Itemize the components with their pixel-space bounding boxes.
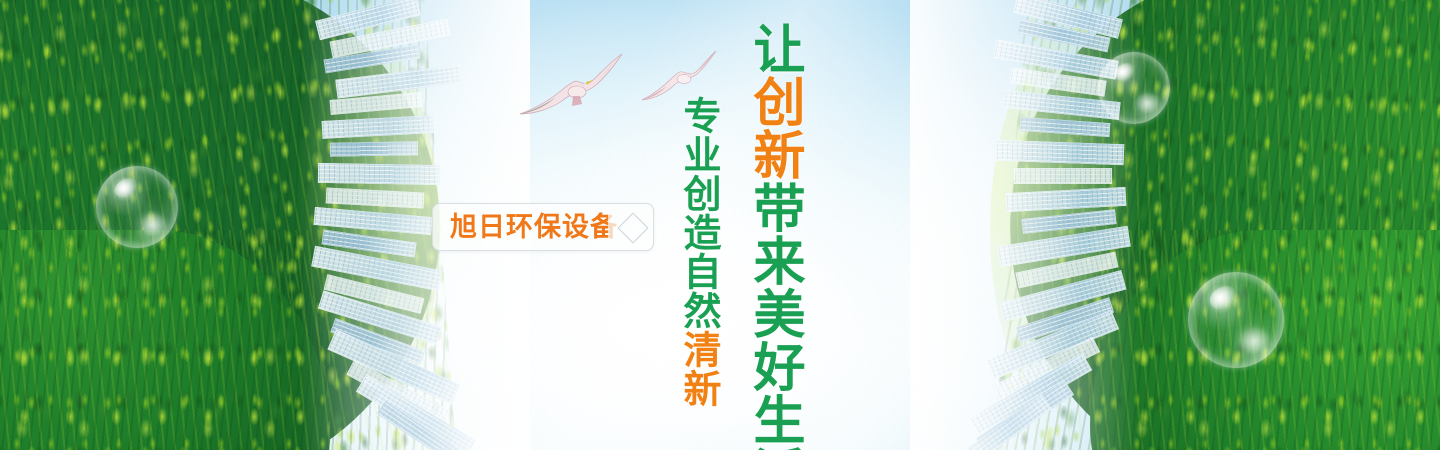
subline-vertical: 专业创造自然清新 [680,96,718,408]
foliage-texture-lines [0,230,330,450]
subline-segment-1: 专业创造自然 [677,96,721,330]
brand-label-box[interactable]: 旭日环保设备 [432,203,654,251]
subline-segment-2: 清新 [677,330,721,408]
headline-segment-3: 带来美好生活 [744,181,804,450]
bubble-left [96,166,178,248]
headline-vertical: 让创新带来美好生活 [748,22,800,450]
hero-banner: 让创新带来美好生活 专业创造自然清新 旭日环保设备 [0,0,1440,450]
seagull-large-icon [516,52,626,122]
headline-segment-2: 创新 [744,75,804,181]
foliage-bottom-left [0,230,330,450]
bubble-bottom-right [1188,272,1284,368]
bubble-top-right [1098,52,1170,124]
headline-segment-1: 让 [744,22,804,75]
brand-label-text: 旭日环保设备 [433,214,618,241]
